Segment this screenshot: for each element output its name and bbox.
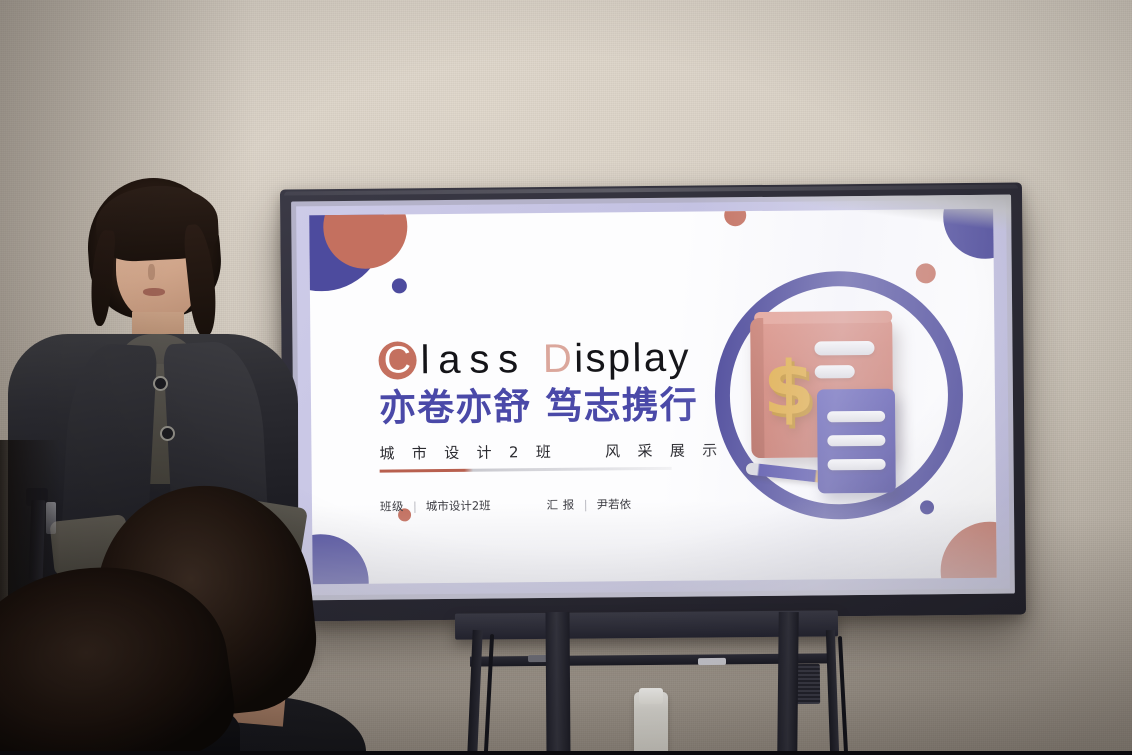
bottom-edge-band xyxy=(0,751,1132,755)
scene: C lass D isplay 亦卷亦舒 笃志携行 城 市 设 计 2 班 xyxy=(0,0,1132,755)
scene-vignette xyxy=(0,0,1132,755)
